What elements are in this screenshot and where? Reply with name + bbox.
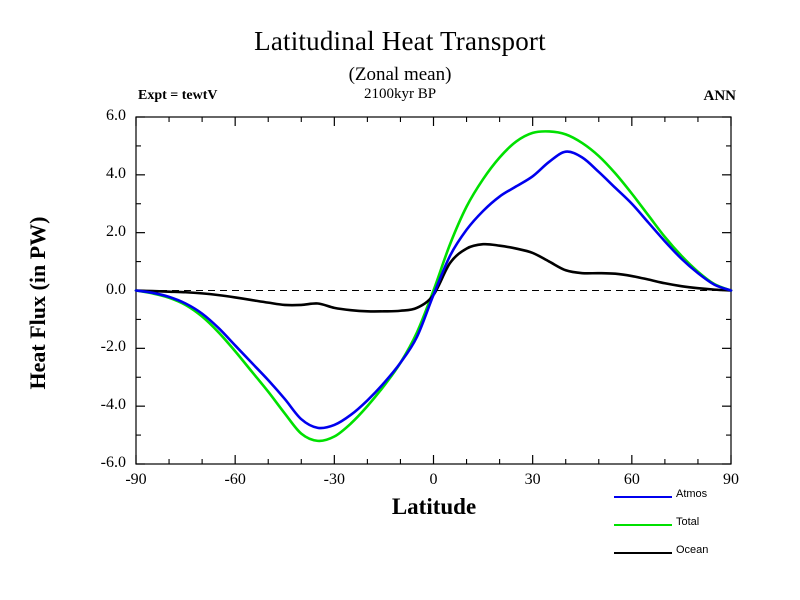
legend-color-swatch (614, 524, 672, 526)
y-tick-label: 4.0 (74, 165, 126, 183)
series-line-ocean (136, 244, 731, 311)
x-tick-label: 30 (503, 471, 563, 489)
y-tick-label: -4.0 (74, 396, 126, 414)
data-series-layer (136, 131, 731, 441)
legend-color-swatch (614, 496, 672, 498)
legend-item-total[interactable]: Total (614, 514, 794, 536)
legend-item-atmos[interactable]: Atmos (614, 486, 794, 508)
y-tick-label: -6.0 (74, 454, 126, 472)
y-tick-label: 2.0 (74, 223, 126, 241)
y-tick-label: 6.0 (74, 107, 126, 125)
x-tick-label: -90 (106, 471, 166, 489)
chart-figure: Latitudinal Heat Transport (Zonal mean) … (0, 0, 800, 600)
x-tick-label: 0 (404, 471, 464, 489)
x-tick-label: -60 (205, 471, 265, 489)
legend-color-swatch (614, 552, 672, 554)
legend-label: Total (676, 516, 699, 528)
x-tick-label: -30 (304, 471, 364, 489)
y-tick-label: -2.0 (74, 338, 126, 356)
legend-label: Atmos (676, 488, 707, 500)
y-tick-label: 0.0 (74, 281, 126, 299)
chart-legend: AtmosTotalOcean (614, 486, 794, 566)
legend-item-ocean[interactable]: Ocean (614, 542, 794, 564)
series-line-total (136, 131, 731, 441)
legend-label: Ocean (676, 544, 708, 556)
